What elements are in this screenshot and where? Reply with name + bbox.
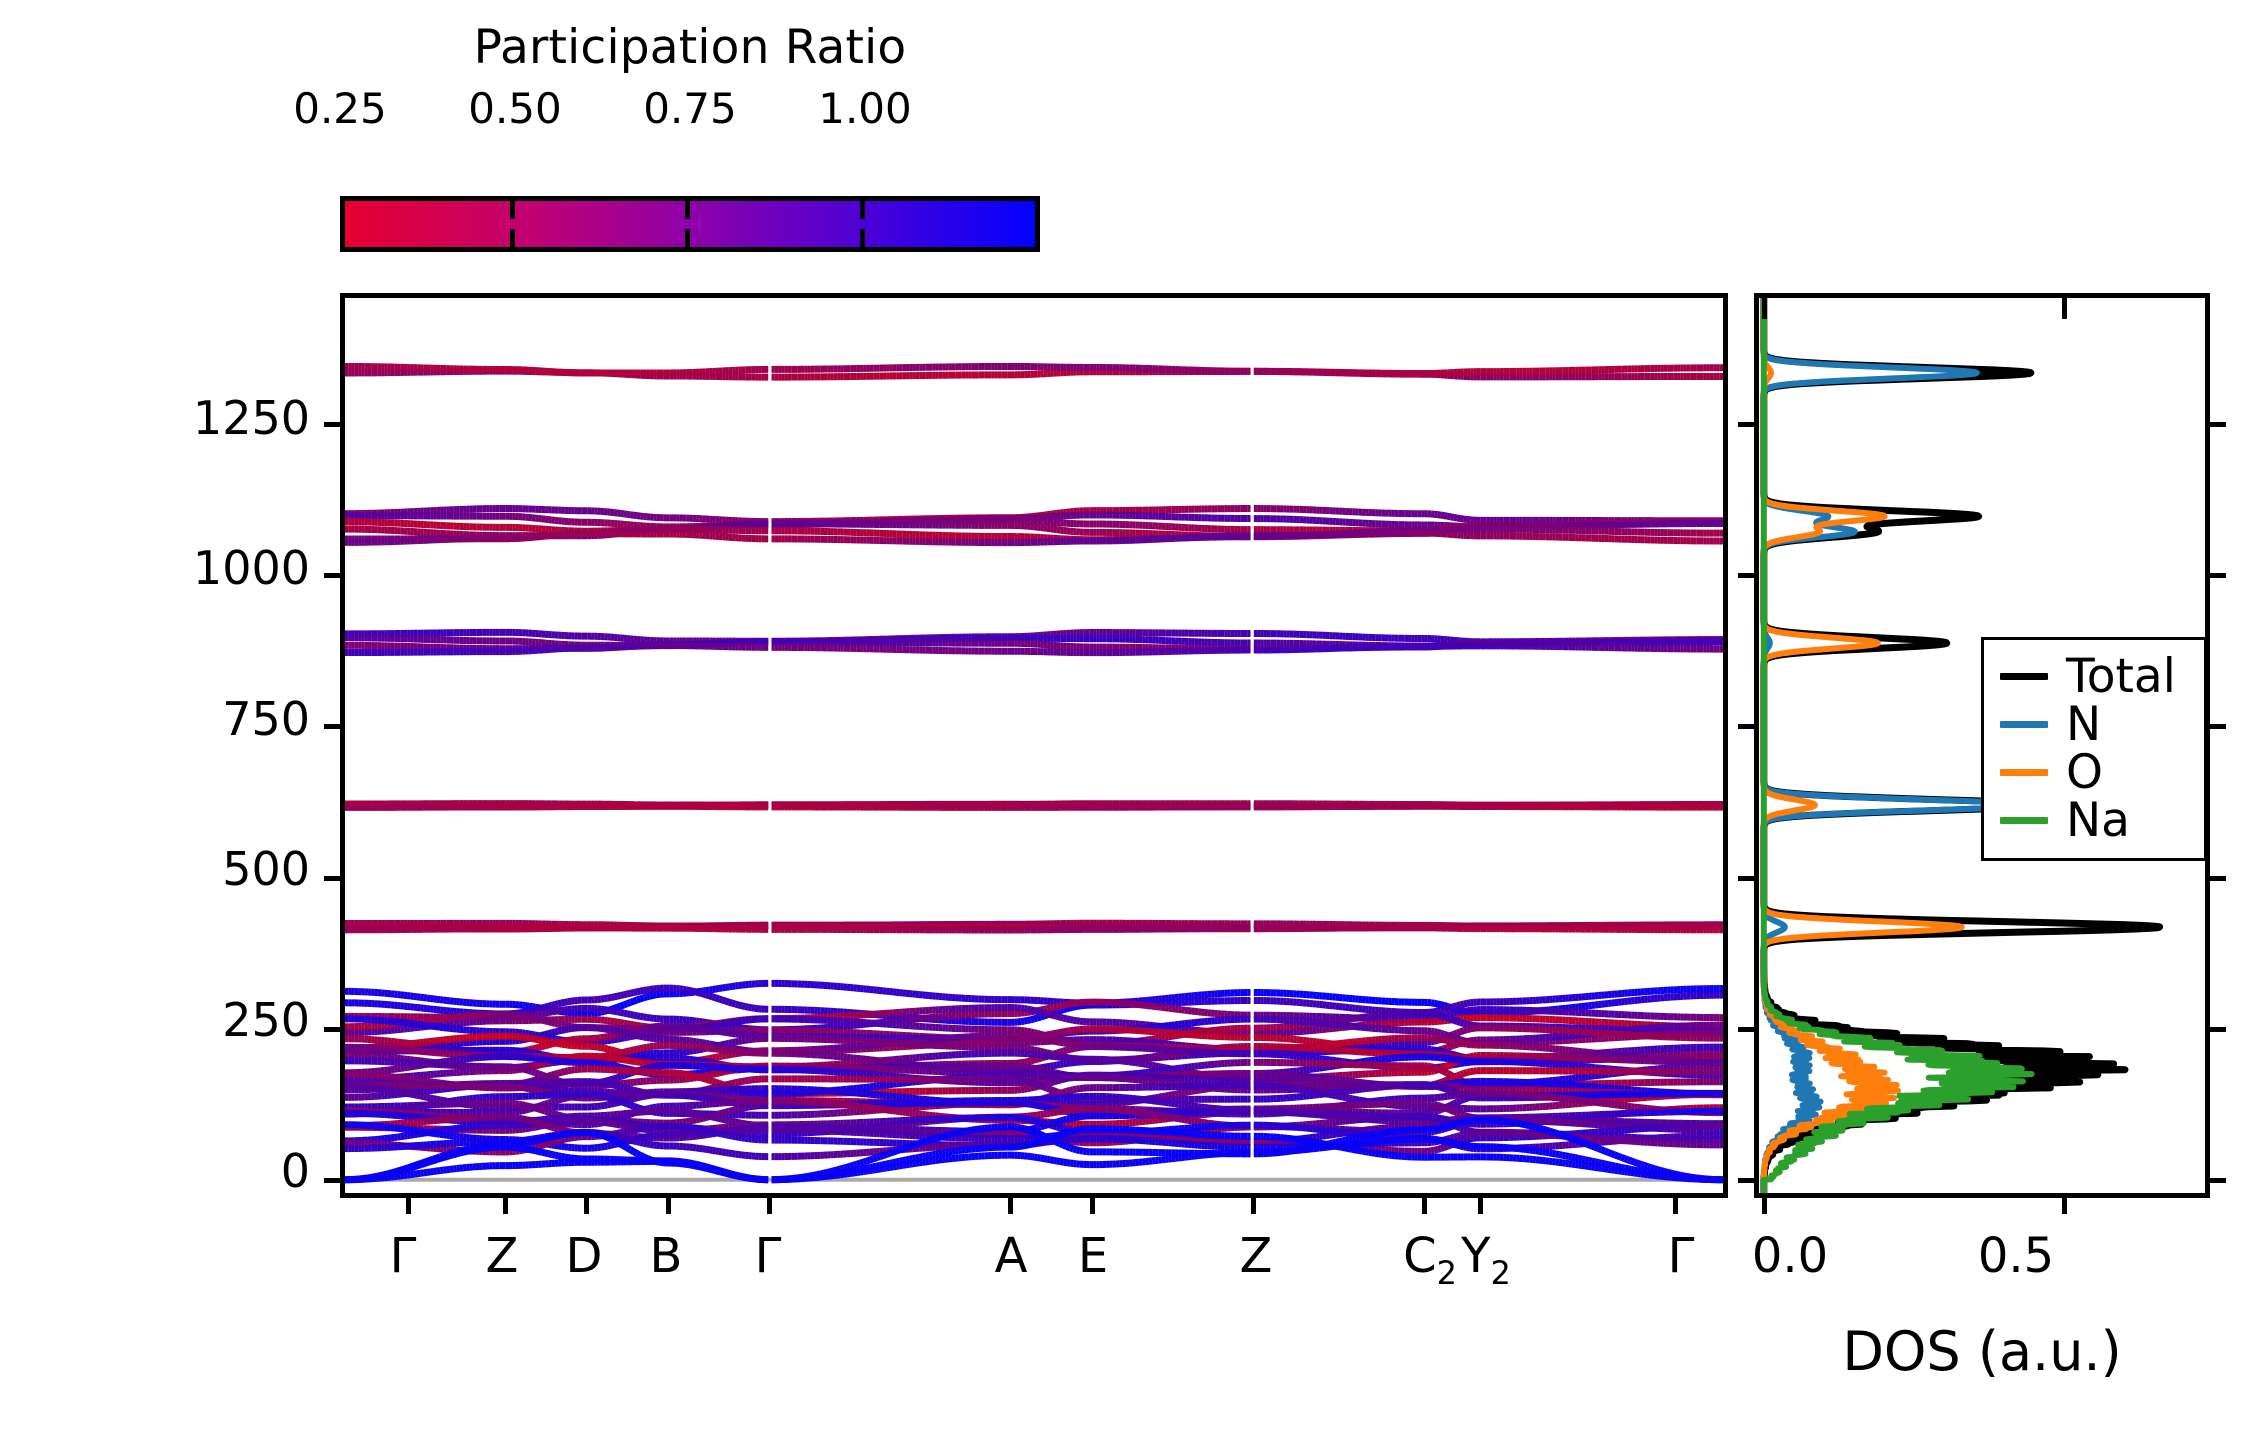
- y-tick-label-250: 250: [150, 997, 310, 1043]
- dos-x-tick-0: [1762, 1193, 1767, 1214]
- x-tick-8: [1422, 1193, 1427, 1214]
- x-tick-6: [1090, 1193, 1095, 1214]
- legend-label-n: N: [2066, 701, 2101, 748]
- dos-y-tick-right-0: [2205, 1178, 2226, 1183]
- colorbar-tick-0: 0.25: [260, 84, 420, 133]
- dos-y-tick-left-250: [1738, 1027, 1759, 1032]
- y-tick-label-0: 0: [150, 1148, 310, 1194]
- x-tick-label-gamma-3: Γ: [1668, 1232, 1695, 1280]
- x-tick-label-c2: C2: [1403, 1232, 1457, 1280]
- x-tick-label-b: B: [650, 1232, 683, 1280]
- dos-x-tick-top-0: [1762, 298, 1767, 319]
- y-tick-500: [324, 876, 345, 881]
- colorbar-tick-1: 0.50: [435, 84, 595, 133]
- x-tick-label-gamma-1: Γ: [390, 1232, 417, 1280]
- x-tick-2: [584, 1193, 589, 1214]
- legend-swatch-n: [2000, 721, 2048, 728]
- legend-label-total: Total: [2066, 653, 2176, 700]
- legend-item-o[interactable]: O: [2000, 748, 2184, 796]
- legend-swatch-total: [2000, 673, 2048, 680]
- y-tick-label-750: 750: [150, 696, 310, 742]
- dos-y-tick-left-1000: [1738, 573, 1759, 578]
- legend-item-total[interactable]: Total: [2000, 652, 2184, 700]
- x-tick-1: [503, 1193, 508, 1214]
- dos-y-tick-left-0: [1738, 1178, 1759, 1183]
- x-tick-9: [1478, 1193, 1483, 1214]
- y-tick-0: [324, 1178, 345, 1183]
- band-plot-area: [345, 298, 1723, 1193]
- colorbar-title: Participation Ratio: [340, 24, 1040, 71]
- dos-y-tick-left-1250: [1738, 422, 1759, 427]
- x-tick-label-z-2: Z: [1240, 1232, 1273, 1280]
- legend-label-o: O: [2066, 749, 2103, 796]
- x-tick-label-gamma-2: Γ: [755, 1232, 782, 1280]
- dos-x-tick-label-1: 0.5: [1978, 1232, 2054, 1280]
- figure-canvas: Participation Ratio 0.25 0.50 0.75 1.00 …: [0, 0, 2259, 1455]
- participation-ratio-colorbar: [340, 196, 1040, 252]
- y-tick-250: [324, 1027, 345, 1032]
- x-tick-4: [767, 1193, 772, 1214]
- legend-label-na: Na: [2066, 797, 2130, 844]
- dos-y-tick-right-500: [2205, 876, 2226, 881]
- x-tick-10: [1673, 1193, 1678, 1214]
- dos-x-axis-title: DOS (a.u.): [1842, 1320, 2121, 1383]
- x-tick-3: [666, 1193, 671, 1214]
- x-tick-label-a: A: [995, 1232, 1028, 1280]
- legend-item-n[interactable]: N: [2000, 700, 2184, 748]
- phonon-band-structure-axes: [340, 293, 1728, 1198]
- x-tick-7: [1251, 1193, 1256, 1214]
- x-tick-label-y2: Y2: [1461, 1232, 1511, 1280]
- dos-y-tick-right-750: [2205, 724, 2226, 729]
- dos-x-tick-1: [2062, 1193, 2067, 1214]
- dos-x-tick-top-1: [2062, 298, 2067, 319]
- dos-y-tick-right-250: [2205, 1027, 2226, 1032]
- colorbar-frame: [340, 196, 1040, 252]
- colorbar-tick-3: 1.00: [785, 84, 945, 133]
- dos-x-tick-label-0: 0.0: [1752, 1232, 1828, 1280]
- x-tick-0: [406, 1193, 411, 1214]
- band-curves: [345, 298, 1723, 1193]
- dos-y-tick-right-1250: [2205, 422, 2226, 427]
- y-tick-750: [324, 724, 345, 729]
- x-tick-label-z-1: Z: [486, 1232, 519, 1280]
- y-tick-label-1250: 1250: [120, 395, 310, 441]
- legend-swatch-o: [2000, 769, 2048, 776]
- x-tick-label-d: D: [566, 1232, 603, 1280]
- x-tick-label-e: E: [1078, 1232, 1108, 1280]
- dos-y-tick-left-500: [1738, 876, 1759, 881]
- dos-legend: Total N O Na: [1981, 637, 2207, 861]
- y-tick-label-1000: 1000: [120, 545, 310, 591]
- y-tick-1000: [324, 573, 345, 578]
- legend-item-na[interactable]: Na: [2000, 796, 2184, 844]
- dos-y-tick-left-750: [1738, 724, 1759, 729]
- dos-y-tick-right-1000: [2205, 573, 2226, 578]
- colorbar-tick-2: 0.75: [610, 84, 770, 133]
- legend-swatch-na: [2000, 817, 2048, 824]
- x-tick-5: [1008, 1193, 1013, 1214]
- y-tick-1250: [324, 422, 345, 427]
- y-tick-label-500: 500: [150, 846, 310, 892]
